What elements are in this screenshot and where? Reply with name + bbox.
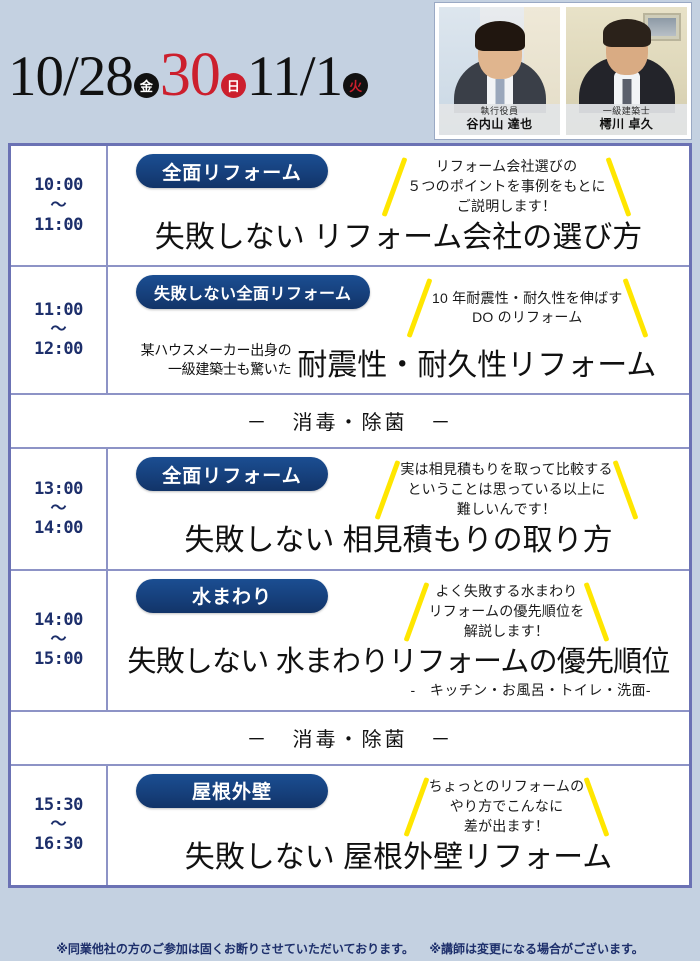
time-end: 14:00 [34, 518, 83, 539]
footer-note-2: ※講師は変更になる場合がございます。 [429, 942, 643, 956]
time-start: 15:30 [34, 795, 83, 816]
time-start: 11:00 [34, 300, 83, 321]
presenter-1-name: 谷内山 達也 [439, 117, 560, 132]
date-3-number: 11/1 [247, 48, 342, 105]
session-pretitle: 某ハウスメーカー出身の 一級建築士も驚いた [141, 341, 292, 383]
schedule-row: 10:00 〜 11:00 全面リフォーム リフォーム会社選びの ５つのポイント… [11, 146, 689, 267]
time-end: 12:00 [34, 339, 83, 360]
session-title-strip: 某ハウスメーカー出身の 一級建築士も驚いた 耐震性・耐久性リフォーム [118, 341, 679, 383]
schedule-row: 15:30 〜 16:30 屋根外壁 ちょっとのリフォームの やり方でこんなに … [11, 766, 689, 885]
session-title: 耐震性・耐久性リフォーム [297, 348, 656, 383]
date-1-number: 10/28 [8, 48, 133, 105]
session-title: 失敗しない リフォーム会社の選び方 [155, 220, 642, 255]
presenter-2-role: 一級建築士 [566, 106, 687, 117]
schedule-row: 11:00 〜 12:00 失敗しない全面リフォーム 10 年耐震性・耐久性を伸… [11, 267, 689, 395]
schedule-row: 14:00 〜 15:00 水まわり よく失敗する水まわり リフォームの優先順位… [11, 571, 689, 712]
schedule-table: 10:00 〜 11:00 全面リフォーム リフォーム会社選びの ５つのポイント… [8, 143, 692, 888]
session-category-badge: 全面リフォーム [136, 154, 328, 188]
session-description-wrap: 実は相見積もりを取って比較する ということは思っている以上に 難しいんです！ [334, 457, 679, 521]
slash-left-icon [403, 582, 429, 642]
session-description-wrap: リフォーム会社選びの ５つのポイントを事例をもとに ご説明します！ [334, 154, 679, 218]
time-cell: 14:00 〜 15:00 [11, 571, 108, 710]
session-title: 失敗しない 屋根外壁リフォーム [185, 840, 612, 875]
time-cell: 13:00 〜 14:00 [11, 449, 108, 568]
slash-right-icon [622, 278, 648, 338]
session-title-strip: 失敗しない リフォーム会社の選び方 [118, 220, 679, 255]
session-top-strip: 失敗しない全面リフォーム 10 年耐震性・耐久性を伸ばす DO のリフォーム [118, 275, 679, 339]
session-description-wrap: 10 年耐震性・耐久性を伸ばす DO のリフォーム [376, 275, 679, 339]
footer-note-1: ※同業他社の方のご参加は固くお断りさせていただいております。 [56, 942, 414, 956]
time-start: 10:00 [34, 175, 83, 196]
session-category-badge: 水まわり [136, 579, 328, 613]
session-title-strip: 失敗しない 相見積もりの取り方 [118, 523, 679, 558]
slash-left-icon [382, 157, 408, 217]
session-category-badge: 全面リフォーム [136, 457, 328, 491]
session-description: ちょっとのリフォームの やり方でこんなに 差が出ます！ [429, 777, 585, 837]
presenter-photo-panel: 執行役員 谷内山 達也 一級建築士 樗川 卓久 [434, 2, 692, 140]
session-category-badge: 屋根外壁 [136, 774, 328, 808]
session-description-wrap: ちょっとのリフォームの やり方でこんなに 差が出ます！ [334, 774, 679, 838]
time-cell: 10:00 〜 11:00 [11, 146, 108, 265]
presenter-2-name: 樗川 卓久 [566, 117, 687, 132]
session-title: 失敗しない 相見積もりの取り方 [184, 523, 612, 558]
session-description: よく失敗する水まわり リフォームの優先順位を 解説します！ [429, 582, 585, 642]
footer-notes: ※同業他社の方のご参加は固くお断りさせていただいております。 ※講師は変更になる… [0, 940, 700, 961]
date-3-dayofweek-badge: 火 [343, 73, 368, 98]
session-description: リフォーム会社選びの ５つのポイントを事例をもとに ご説明します！ [407, 157, 606, 217]
time-start: 13:00 [34, 479, 83, 500]
time-separator: 〜 [50, 817, 66, 833]
session-top-strip: 水まわり よく失敗する水まわり リフォームの優先順位を 解説します！ [118, 579, 679, 643]
session-content: 全面リフォーム 実は相見積もりを取って比較する ということは思っている以上に 難… [108, 449, 689, 568]
poster-header: 10/28 金 30 日 11/1 火 執行役員 谷内山 達也 [0, 0, 700, 140]
date-2-number: 30 [160, 44, 220, 106]
session-content: 水まわり よく失敗する水まわり リフォームの優先順位を 解説します！ 失敗しない… [108, 571, 689, 710]
session-top-strip: 全面リフォーム 実は相見積もりを取って比較する ということは思っている以上に 難… [118, 457, 679, 521]
time-end: 16:30 [34, 834, 83, 855]
date-2-dayofweek-badge: 日 [221, 73, 246, 98]
session-description: 10 年耐震性・耐久性を伸ばす DO のリフォーム [432, 289, 622, 329]
session-subtitle: - キッチン・お風呂・トイレ・洗面- [118, 680, 679, 700]
presenter-2-hair [603, 19, 651, 47]
slash-right-icon [584, 582, 610, 642]
date-1-dayofweek-badge: 金 [134, 73, 159, 98]
break-label: － 消毒・除菌 － [11, 712, 689, 764]
presenter-2-caption: 一級建築士 樗川 卓久 [566, 104, 687, 135]
session-category-badge: 失敗しない全面リフォーム [136, 275, 370, 309]
slash-right-icon [612, 460, 638, 520]
time-start: 14:00 [34, 610, 83, 631]
slash-left-icon [375, 460, 401, 520]
date-headline: 10/28 金 30 日 11/1 火 [8, 44, 369, 106]
session-description: 実は相見積もりを取って比較する ということは思っている以上に 難しいんです！ [400, 460, 612, 520]
session-title-strip: 失敗しない 屋根外壁リフォーム [118, 840, 679, 875]
session-content: 全面リフォーム リフォーム会社選びの ５つのポイントを事例をもとに ご説明します… [108, 146, 689, 265]
time-end: 11:00 [34, 215, 83, 236]
time-separator: 〜 [50, 322, 66, 338]
time-cell: 11:00 〜 12:00 [11, 267, 108, 393]
presenter-photo-2: 一級建築士 樗川 卓久 [566, 7, 687, 135]
session-description-wrap: よく失敗する水まわり リフォームの優先順位を 解説します！ [334, 579, 679, 643]
session-top-strip: 全面リフォーム リフォーム会社選びの ５つのポイントを事例をもとに ご説明します… [118, 154, 679, 218]
slash-right-icon [584, 777, 610, 837]
presenter-1-hair [475, 21, 525, 51]
session-title-strip: 失敗しない 水まわりリフォームの優先順位 [118, 645, 679, 679]
time-separator: 〜 [50, 198, 66, 214]
slash-left-icon [407, 278, 433, 338]
time-end: 15:00 [34, 649, 83, 670]
session-title: 失敗しない 水まわりリフォームの優先順位 [127, 645, 669, 679]
time-separator: 〜 [50, 632, 66, 648]
break-divider-row: － 消毒・除菌 － [11, 395, 689, 449]
session-content: 屋根外壁 ちょっとのリフォームの やり方でこんなに 差が出ます！ 失敗しない 屋… [108, 766, 689, 885]
time-cell: 15:30 〜 16:30 [11, 766, 108, 885]
time-separator: 〜 [50, 501, 66, 517]
break-label: － 消毒・除菌 － [11, 395, 689, 447]
slash-right-icon [605, 157, 631, 217]
schedule-row: 13:00 〜 14:00 全面リフォーム 実は相見積もりを取って比較する とい… [11, 449, 689, 570]
session-content: 失敗しない全面リフォーム 10 年耐震性・耐久性を伸ばす DO のリフォーム 某… [108, 267, 689, 393]
presenter-photo-1: 執行役員 谷内山 達也 [439, 7, 560, 135]
presenter-1-role: 執行役員 [439, 106, 560, 117]
break-divider-row: － 消毒・除菌 － [11, 712, 689, 766]
session-top-strip: 屋根外壁 ちょっとのリフォームの やり方でこんなに 差が出ます！ [118, 774, 679, 838]
slash-left-icon [403, 777, 429, 837]
presenter-1-caption: 執行役員 谷内山 達也 [439, 104, 560, 135]
